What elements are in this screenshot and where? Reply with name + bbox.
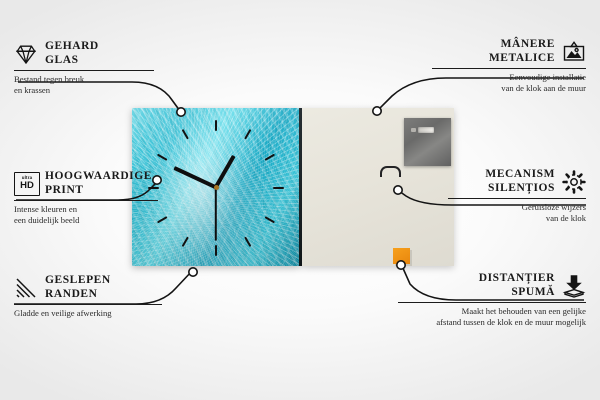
picture-frame-icon <box>562 40 586 64</box>
feature-header: MÂNERE METALICE <box>432 38 586 65</box>
feature-rule <box>14 200 158 201</box>
feature-rule <box>14 70 154 71</box>
clock-tick <box>215 120 217 131</box>
feature-rule <box>14 304 162 305</box>
feature-title: DISTANȚIER SPUMĂ <box>398 272 555 299</box>
mechanism-hanging-loop <box>380 166 401 177</box>
hanger-slot <box>418 127 434 133</box>
feature-description: Intense kleuren en een duidelijk beeld <box>14 204 184 226</box>
feature-hoogwaardige-print: ultra HD HOOGWAARDIGE PRINT Intense kleu… <box>14 170 184 226</box>
second-hand <box>215 187 217 241</box>
feature-title: GEHARD GLAS <box>45 40 99 67</box>
hanger-screw-hole <box>411 128 416 132</box>
gear-icon <box>562 170 586 194</box>
feature-header: ultra HD HOOGWAARDIGE PRINT <box>14 170 184 197</box>
feature-rule <box>432 68 586 69</box>
feature-description: Bestand tegen breuk en krassen <box>14 74 166 96</box>
feature-header: DISTANȚIER SPUMĂ <box>398 272 586 299</box>
feature-title: MÂNERE METALICE <box>489 38 555 65</box>
infographic-canvas: GEHARD GLAS Bestand tegen breuk en krass… <box>0 0 600 400</box>
feature-rule <box>398 302 586 303</box>
bevelled-edges-icon <box>14 276 38 300</box>
clock-hub <box>214 185 219 190</box>
spacer-press-icon <box>562 274 586 298</box>
ultra-hd-icon: ultra HD <box>14 172 38 196</box>
feature-gehard-glas: GEHARD GLAS Bestand tegen breuk en krass… <box>14 40 166 96</box>
foam-spacer <box>393 248 410 264</box>
feature-mecanism-silentios: MECANISM SILENȚIOS Geruisloze wijzers va… <box>448 168 586 224</box>
feature-rule <box>448 198 586 199</box>
diamond-icon <box>14 42 38 66</box>
feature-header: GESLEPEN RANDEN <box>14 274 174 301</box>
feature-title: HOOGWAARDIGE PRINT <box>45 170 152 197</box>
feature-title: GESLEPEN RANDEN <box>45 274 111 301</box>
feature-distantier-spuma: DISTANȚIER SPUMĂ Maakt het behouden van … <box>398 272 586 328</box>
feature-description: Geruisloze wijzers van de klok <box>448 202 586 224</box>
metal-hanger-plate <box>404 118 451 166</box>
feature-description: Maakt het behouden van een gelijke afsta… <box>398 306 586 328</box>
feature-description: Eenvoudige installatie van de klok aan d… <box>432 72 586 94</box>
feature-description: Gladde en veilige afwerking <box>14 308 174 319</box>
ultra-hd-icon-label-main: HD <box>20 181 34 191</box>
feature-manere-metalice: MÂNERE METALICE Eenvoudige installatie v… <box>432 38 586 94</box>
feature-header: MECANISM SILENȚIOS <box>448 168 586 195</box>
feature-title: MECANISM SILENȚIOS <box>485 168 555 195</box>
clock-tick <box>215 245 217 256</box>
clock-tick <box>273 187 284 189</box>
feature-header: GEHARD GLAS <box>14 40 166 67</box>
feature-geslepen-randen: GESLEPEN RANDEN Gladde en veilige afwerk… <box>14 274 174 319</box>
